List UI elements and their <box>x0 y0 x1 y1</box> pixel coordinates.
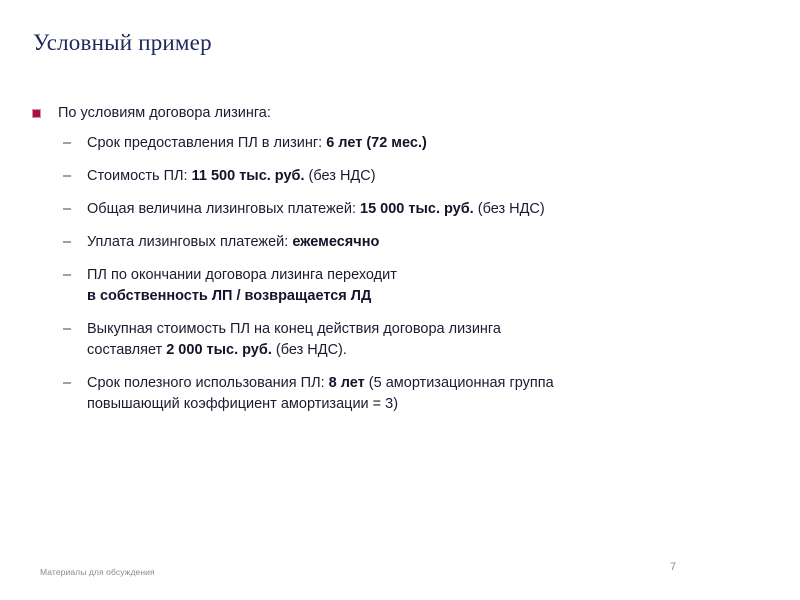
list-item-text: Выкупная стоимость ПЛ на конец действия … <box>87 319 501 361</box>
text-run: (без НДС) <box>305 168 376 184</box>
lead-text: По условиям договора лизинга: <box>58 103 271 123</box>
emphasis-run: 8 лет <box>329 375 365 391</box>
page-number: 7 <box>670 560 676 574</box>
emphasis-run: в собственность ЛП / возвращается ЛД <box>87 288 371 304</box>
list-item-text: Уплата лизинговых платежей: ежемесячно <box>87 232 379 253</box>
dash-bullet-icon: – <box>63 133 74 154</box>
text-run: повышающий коэффициент амортизации = 3) <box>87 396 398 412</box>
dash-bullet-icon: – <box>63 373 74 394</box>
text-run: Общая величина лизинговых платежей: <box>87 201 360 217</box>
square-bullet-icon <box>33 110 40 117</box>
slide-canvas: Условный пример По условиям договора лиз… <box>0 0 800 600</box>
page-title: Условный пример <box>33 29 212 57</box>
dash-bullet-icon: – <box>63 232 74 253</box>
emphasis-run: ежемесячно <box>292 234 379 250</box>
text-run: ПЛ по окончании договора лизинга переход… <box>87 267 397 283</box>
emphasis-run: 2 000 тыс. руб. <box>166 342 272 358</box>
list-item-text: Стоимость ПЛ: 11 500 тыс. руб. (без НДС) <box>87 166 376 187</box>
text-run: (без НДС). <box>272 342 347 358</box>
slide-body: По условиям договора лизинга: –Срок пред… <box>33 103 743 427</box>
dash-bullet-icon: – <box>63 166 74 187</box>
dash-bullet-icon: – <box>63 319 74 340</box>
text-run: (без НДС) <box>474 201 545 217</box>
text-run: составляет <box>87 342 166 358</box>
list-item-lease-term: –Срок предоставления ПЛ в лизинг: 6 лет … <box>33 133 743 154</box>
text-run: Уплата лизинговых платежей: <box>87 234 292 250</box>
list-item-total-lease-payments: –Общая величина лизинговых платежей: 15 … <box>33 199 743 220</box>
list-item-text: Срок полезного использования ПЛ: 8 лет (… <box>87 373 554 415</box>
dash-bullet-icon: – <box>63 199 74 220</box>
footer-note: Материалы для обсуждения <box>40 566 155 578</box>
list-item-text: Общая величина лизинговых платежей: 15 0… <box>87 199 545 220</box>
sub-bullet-list: –Срок предоставления ПЛ в лизинг: 6 лет … <box>33 133 743 415</box>
emphasis-run: 15 000 тыс. руб. <box>360 201 474 217</box>
emphasis-run: 11 500 тыс. руб. <box>192 168 305 184</box>
list-item-lead: По условиям договора лизинга: <box>33 103 743 123</box>
dash-bullet-icon: – <box>63 265 74 286</box>
list-item-text: Срок предоставления ПЛ в лизинг: 6 лет (… <box>87 133 427 154</box>
text-run: Выкупная стоимость ПЛ на конец действия … <box>87 321 501 337</box>
emphasis-run: 6 лет (72 мес.) <box>326 135 427 151</box>
list-item-ownership-transfer: –ПЛ по окончании договора лизинга перехо… <box>33 265 743 307</box>
list-item-text: ПЛ по окончании договора лизинга переход… <box>87 265 397 307</box>
text-run: Стоимость ПЛ: <box>87 168 192 184</box>
list-item-residual-value: –Выкупная стоимость ПЛ на конец действия… <box>33 319 743 361</box>
text-run: Срок предоставления ПЛ в лизинг: <box>87 135 326 151</box>
text-run: (5 амортизационная группа <box>365 375 554 391</box>
text-run: Срок полезного использования ПЛ: <box>87 375 329 391</box>
list-item-asset-cost: –Стоимость ПЛ: 11 500 тыс. руб. (без НДС… <box>33 166 743 187</box>
list-item-useful-life: –Срок полезного использования ПЛ: 8 лет … <box>33 373 743 415</box>
list-item-payment-frequency: –Уплата лизинговых платежей: ежемесячно <box>33 232 743 253</box>
